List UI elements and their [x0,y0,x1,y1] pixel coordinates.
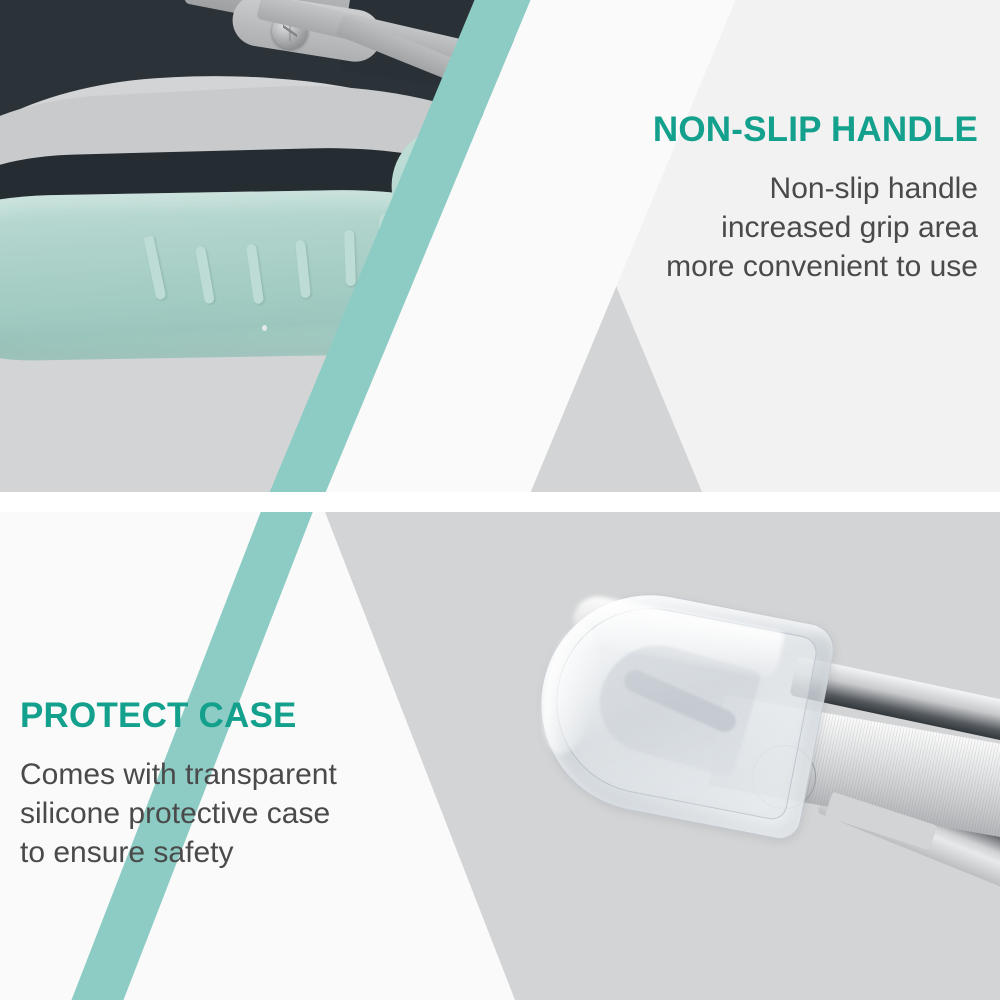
grip-ridge [344,230,356,286]
feature-description-line: Non-slip handle [653,169,978,208]
feature-text-block-protect-case: PROTECT CASE Comes with transparent sili… [20,698,337,872]
photo-speck [262,325,267,331]
feature-text-block-non-slip-handle: NON-SLIP HANDLE Non-slip handle increase… [653,112,978,286]
feature-panel-non-slip-handle: NON-SLIP HANDLE Non-slip handle increase… [0,0,1000,492]
feature-description-line: Comes with transparent [20,755,337,794]
feature-title-non-slip-handle: NON-SLIP HANDLE [653,112,978,149]
feature-description-line: increased grip area [653,208,978,247]
feature-description-line: more convenient to use [653,247,978,286]
infographic-board: NON-SLIP HANDLE Non-slip handle increase… [0,0,1000,1000]
feature-description-line: to ensure safety [20,833,337,872]
feature-description-protect-case: Comes with transparent silicone protecti… [20,755,337,872]
feature-title-protect-case: PROTECT CASE [20,698,337,735]
feature-description-non-slip-handle: Non-slip handle increased grip area more… [653,169,978,286]
feature-description-line: silicone protective case [20,794,337,833]
